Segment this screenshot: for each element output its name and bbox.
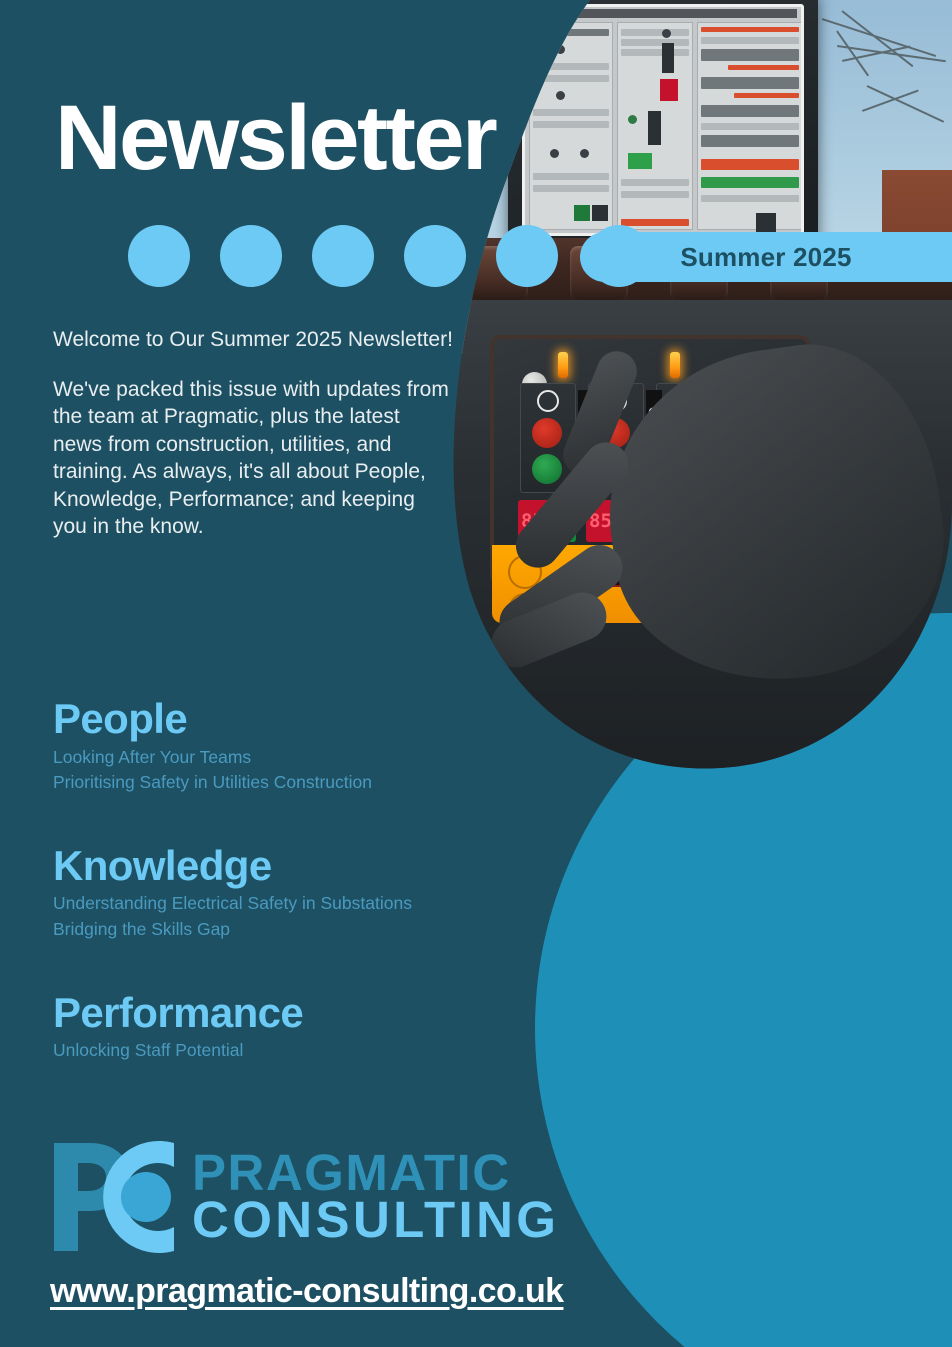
section-heading: Knowledge xyxy=(53,844,523,888)
photo-label-column xyxy=(529,22,613,230)
contents-list: People Looking After Your Teams Prioriti… xyxy=(53,697,523,1064)
section-people: People Looking After Your Teams Prioriti… xyxy=(53,697,523,796)
logo-line-consulting: CONSULTING xyxy=(192,1197,559,1244)
cover-photo: 1 2 85 35 85 35 xyxy=(430,0,952,770)
section-knowledge: Knowledge Understanding Electrical Safet… xyxy=(53,844,523,943)
welcome-body: We've packed this issue with updates fro… xyxy=(53,376,453,541)
welcome-text-block: Welcome to Our Summer 2025 Newsletter! W… xyxy=(53,326,453,541)
company-logo: PRAGMATIC CONSULTING xyxy=(50,1133,559,1261)
website-url[interactable]: www.pragmatic-consulting.co.uk xyxy=(50,1272,563,1311)
section-item: Prioritising Safety in Utilities Constru… xyxy=(53,770,523,796)
section-item: Understanding Electrical Safety in Subst… xyxy=(53,891,523,917)
decorative-dot xyxy=(404,225,466,287)
section-heading: Performance xyxy=(53,991,523,1035)
logo-line-pragmatic: PRAGMATIC xyxy=(192,1150,559,1197)
section-performance: Performance Unlocking Staff Potential xyxy=(53,991,523,1064)
photo-indicator-led xyxy=(670,352,680,378)
photo-instruction-label xyxy=(522,4,804,236)
issue-badge: Summer 2025 xyxy=(580,232,952,282)
section-heading: People xyxy=(53,697,523,741)
decorative-dot xyxy=(496,225,558,287)
decorative-dot xyxy=(220,225,282,287)
photo-indicator-led xyxy=(558,352,568,378)
photo-label-column xyxy=(697,22,803,230)
photo-label-title-bar xyxy=(529,9,797,18)
issue-badge-label: Summer 2025 xyxy=(680,242,851,273)
section-item: Looking After Your Teams xyxy=(53,745,523,771)
decorative-dot-row xyxy=(128,225,650,287)
decorative-dot xyxy=(128,225,190,287)
photo-label-column xyxy=(617,22,693,230)
pragmatic-consulting-mark-icon xyxy=(50,1133,178,1261)
newsletter-cover-page: 1 2 85 35 85 35 Ne xyxy=(0,0,952,1347)
cover-photo-image: 1 2 85 35 85 35 xyxy=(430,0,952,770)
section-item: Bridging the Skills Gap xyxy=(53,917,523,943)
section-item: Unlocking Staff Potential xyxy=(53,1038,523,1064)
page-title: Newsletter xyxy=(55,92,495,184)
welcome-heading: Welcome to Our Summer 2025 Newsletter! xyxy=(53,326,453,354)
decorative-dot xyxy=(312,225,374,287)
logo-wordmark: PRAGMATIC CONSULTING xyxy=(192,1150,559,1244)
